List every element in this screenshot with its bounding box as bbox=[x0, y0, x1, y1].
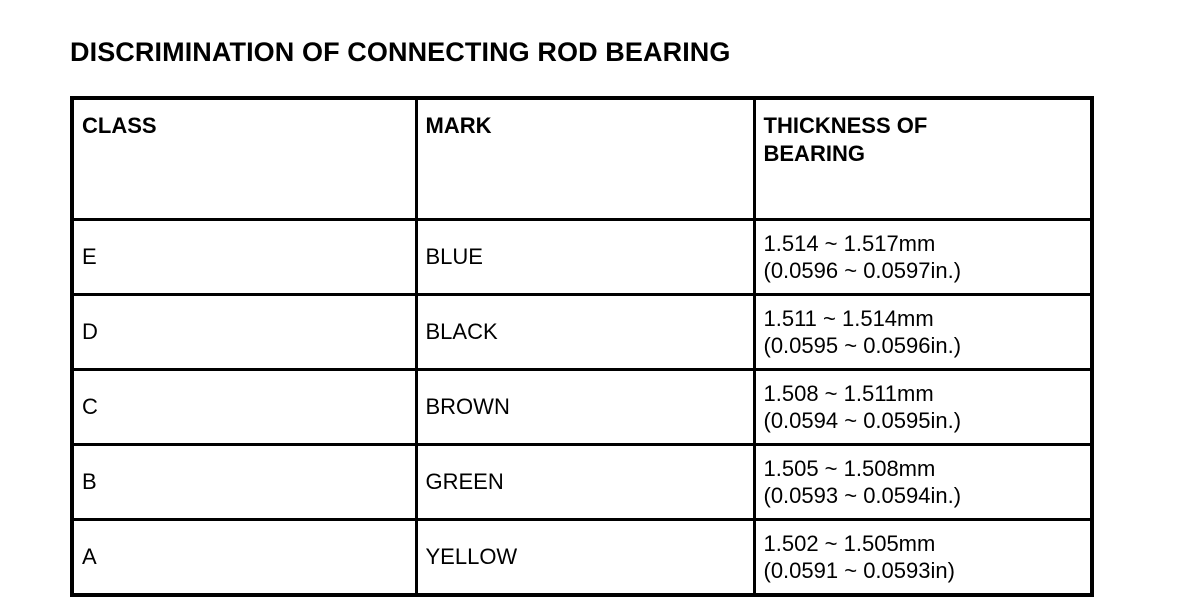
table-row: D BLACK 1.511 ~ 1.514mm (0.0595 ~ 0.0596… bbox=[72, 295, 1092, 370]
thickness-mm: 1.505 ~ 1.508mm bbox=[764, 455, 1091, 483]
cell-mark: BLACK bbox=[416, 295, 754, 370]
cell-thickness: 1.502 ~ 1.505mm (0.0591 ~ 0.0593in) bbox=[754, 520, 1092, 596]
cell-class: B bbox=[72, 445, 416, 520]
table-row: B GREEN 1.505 ~ 1.508mm (0.0593 ~ 0.0594… bbox=[72, 445, 1092, 520]
column-header-thickness-line2: BEARING bbox=[764, 140, 1091, 168]
thickness-inches: (0.0591 ~ 0.0593in) bbox=[764, 557, 1091, 585]
cell-class: C bbox=[72, 370, 416, 445]
cell-thickness: 1.514 ~ 1.517mm (0.0596 ~ 0.0597in.) bbox=[754, 220, 1092, 295]
column-header-thickness: THICKNESS OF BEARING bbox=[754, 98, 1092, 220]
cell-class: E bbox=[72, 220, 416, 295]
document-page: DISCRIMINATION OF CONNECTING ROD BEARING… bbox=[0, 0, 1200, 594]
cell-class: A bbox=[72, 520, 416, 596]
cell-class: D bbox=[72, 295, 416, 370]
table-row: C BROWN 1.508 ~ 1.511mm (0.0594 ~ 0.0595… bbox=[72, 370, 1092, 445]
thickness-inches: (0.0595 ~ 0.0596in.) bbox=[764, 332, 1091, 360]
page-title: DISCRIMINATION OF CONNECTING ROD BEARING bbox=[70, 38, 731, 68]
thickness-mm: 1.508 ~ 1.511mm bbox=[764, 380, 1091, 408]
thickness-mm: 1.511 ~ 1.514mm bbox=[764, 305, 1091, 333]
table-body: E BLUE 1.514 ~ 1.517mm (0.0596 ~ 0.0597i… bbox=[72, 220, 1092, 596]
thickness-inches: (0.0594 ~ 0.0595in.) bbox=[764, 407, 1091, 435]
thickness-mm: 1.502 ~ 1.505mm bbox=[764, 530, 1091, 558]
thickness-inches: (0.0593 ~ 0.0594in.) bbox=[764, 482, 1091, 510]
bearing-discrimination-table: CLASS MARK THICKNESS OF BEARING E BLUE 1… bbox=[70, 96, 1094, 597]
cell-mark: BLUE bbox=[416, 220, 754, 295]
thickness-mm: 1.514 ~ 1.517mm bbox=[764, 230, 1091, 258]
cell-mark: YELLOW bbox=[416, 520, 754, 596]
cell-thickness: 1.508 ~ 1.511mm (0.0594 ~ 0.0595in.) bbox=[754, 370, 1092, 445]
table-header-row: CLASS MARK THICKNESS OF BEARING bbox=[72, 98, 1092, 220]
cell-thickness: 1.505 ~ 1.508mm (0.0593 ~ 0.0594in.) bbox=[754, 445, 1092, 520]
table-row: E BLUE 1.514 ~ 1.517mm (0.0596 ~ 0.0597i… bbox=[72, 220, 1092, 295]
column-header-thickness-line1: THICKNESS OF bbox=[764, 112, 1091, 140]
cell-mark: BROWN bbox=[416, 370, 754, 445]
table-header: CLASS MARK THICKNESS OF BEARING bbox=[72, 98, 1092, 220]
column-header-mark: MARK bbox=[416, 98, 754, 220]
cell-mark: GREEN bbox=[416, 445, 754, 520]
table-row: A YELLOW 1.502 ~ 1.505mm (0.0591 ~ 0.059… bbox=[72, 520, 1092, 596]
column-header-class: CLASS bbox=[72, 98, 416, 220]
cell-thickness: 1.511 ~ 1.514mm (0.0595 ~ 0.0596in.) bbox=[754, 295, 1092, 370]
thickness-inches: (0.0596 ~ 0.0597in.) bbox=[764, 257, 1091, 285]
